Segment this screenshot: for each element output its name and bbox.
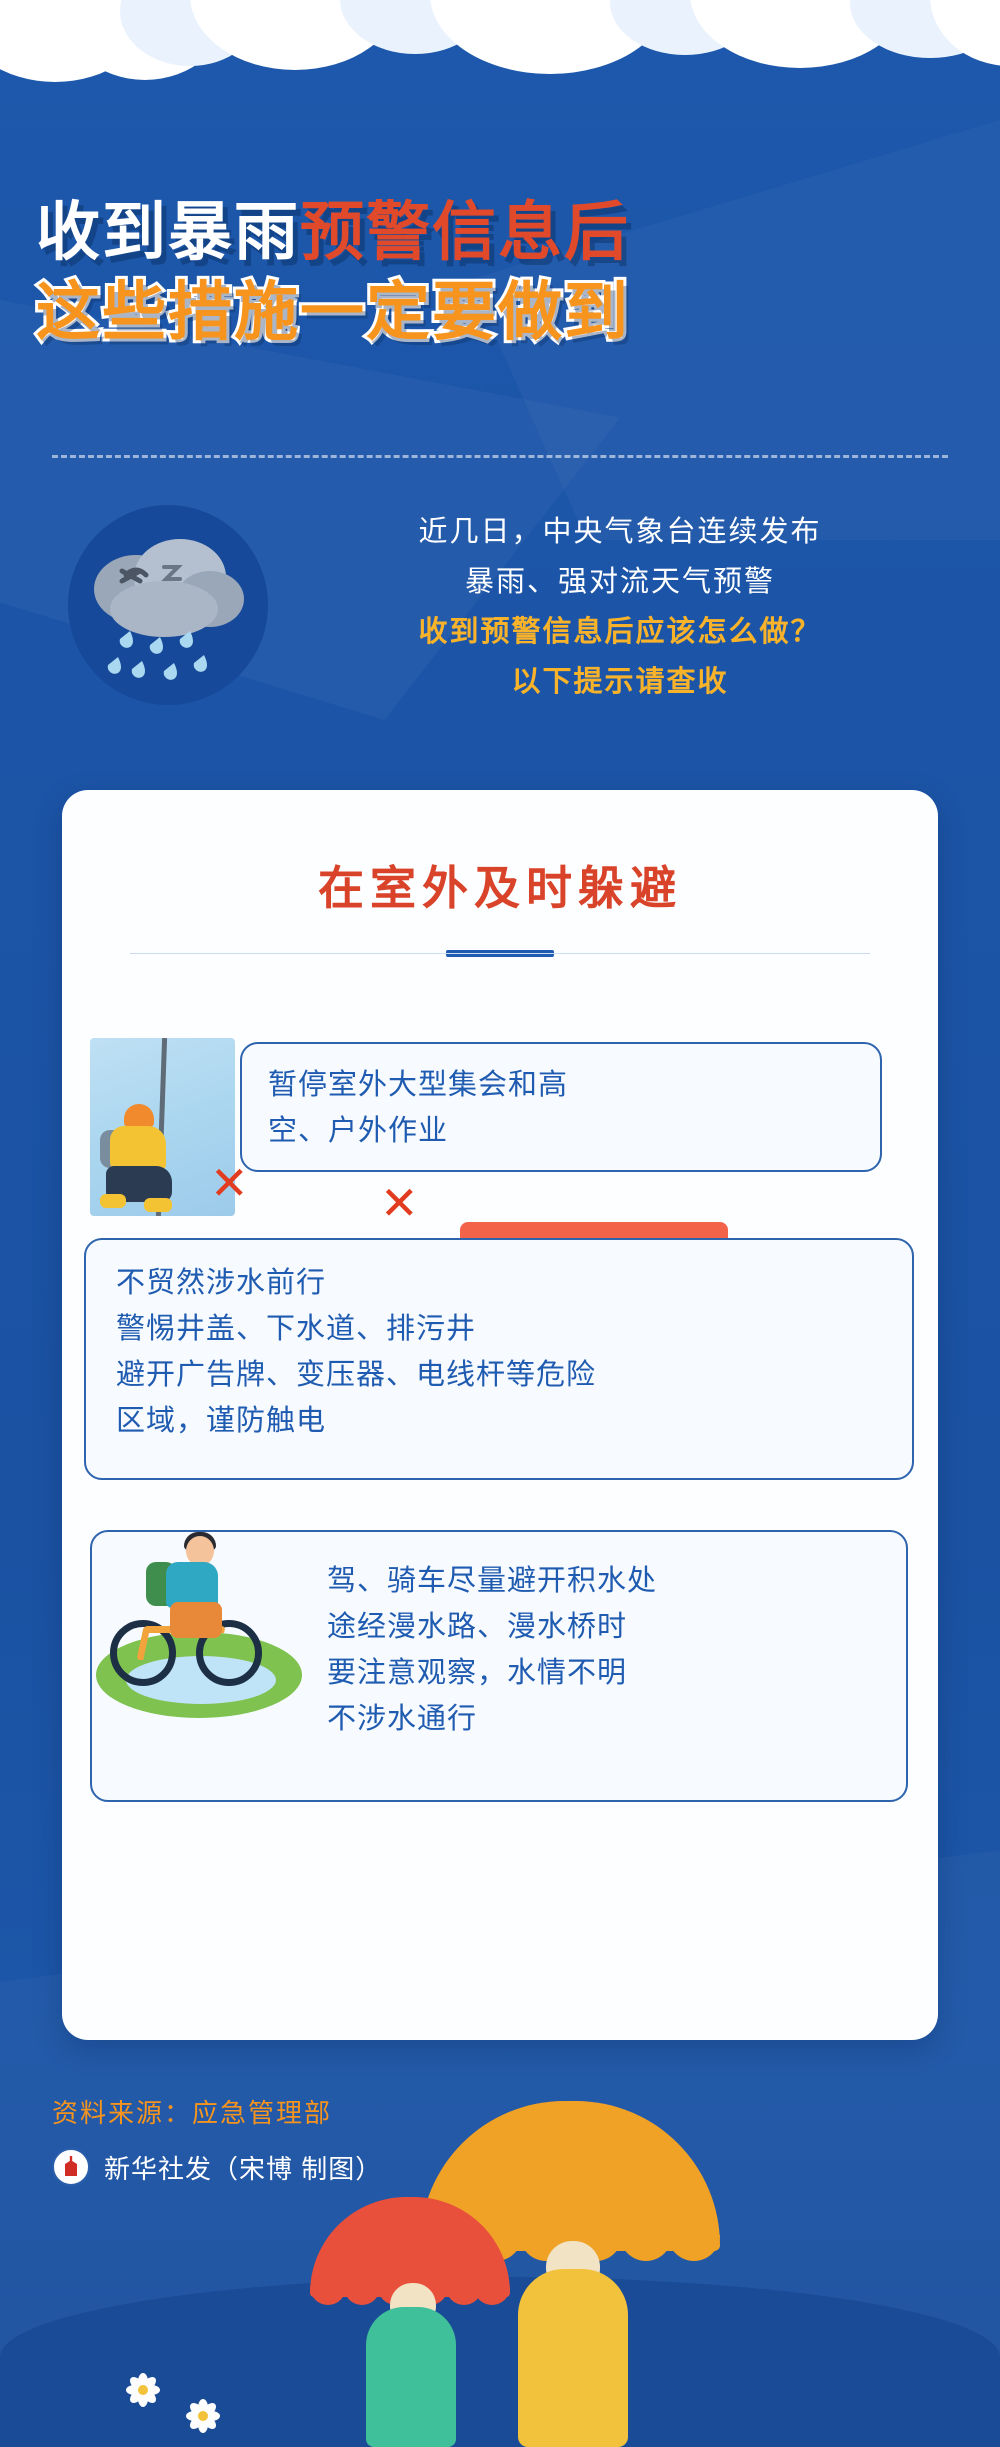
section-hairline [130,953,870,954]
rain-cloud-icon [68,505,268,705]
helmet-icon [124,1104,154,1128]
daisy-flower-icon [186,2399,220,2433]
section-title: 在室外及时躲避 [62,852,938,918]
intro-highlight-line: 收到预警信息后应该怎么做？ [290,607,950,657]
tip-line: 避开广告牌、变压器、电线杆等危险 [116,1352,882,1398]
cross-mark-icon: ✕ [380,1180,419,1226]
legs [170,1602,222,1638]
intro-line: 近几日，中央气象台连续发布 [290,507,950,557]
section-header: 在室外及时躲避 [62,852,938,957]
umbrella-people-illustration [300,1977,1000,2447]
tip-line: 不贸然涉水前行 [116,1260,882,1306]
boot-icon [144,1198,172,1212]
title-line-2: 这些措施一定要做到 [36,280,966,344]
title-line-1: 收到暴雨预警信息后 [36,200,966,264]
cyclist-figure [144,1536,228,1640]
cyclist-puddle-illustration [96,1532,306,1718]
tip-line: 空、户外作业 [268,1108,854,1154]
tip-box-wading: 不贸然涉水前行 警惕井盖、下水道、排污井 避开广告牌、变压器、电线杆等危险 区域… [84,1238,914,1480]
daisy-flower-icon [126,2373,160,2407]
title-part-red: 预警信息后 [300,196,630,268]
tip-line: 区域，谨防触电 [116,1398,882,1444]
climber-figure [100,1104,174,1208]
person-in-yellow-raincoat [518,2269,628,2447]
cross-mark-icon: ✕ [210,1160,249,1206]
intro-highlight-line: 以下提示请查收 [290,657,950,707]
person-in-green-raincoat [366,2307,456,2447]
tip-line: 暂停室外大型集会和高 [268,1062,854,1108]
intro-section: 近几日，中央气象台连续发布 暴雨、强对流天气预警 收到预警信息后应该怎么做？ 以… [40,495,970,765]
intro-line: 暴雨、强对流天气预警 [290,557,950,607]
tip-line: 警惕井盖、下水道、排污井 [116,1306,882,1352]
xinhua-logo-icon [52,2148,90,2186]
intro-text-block: 近几日，中央气象台连续发布 暴雨、强对流天气预警 收到预警信息后应该怎么做？ 以… [290,507,950,707]
source-line: 资料来源：应急管理部 [52,2093,332,2130]
title-part-white: 收到暴雨 [36,196,300,268]
tip-box-outdoor-events: 暂停室外大型集会和高 空、户外作业 [240,1042,882,1172]
boot-icon [100,1194,126,1208]
poster-title: 收到暴雨预警信息后 这些措施一定要做到 [36,200,966,344]
content-card: 在室外及时躲避 暂停室外大型集会和高 空、户外作业 ✕ ✕ [62,790,938,2040]
infographic-poster: 收到暴雨预警信息后 这些措施一定要做到 [0,0,1000,2447]
cloud-band [0,0,1000,110]
dashed-divider [52,455,948,458]
